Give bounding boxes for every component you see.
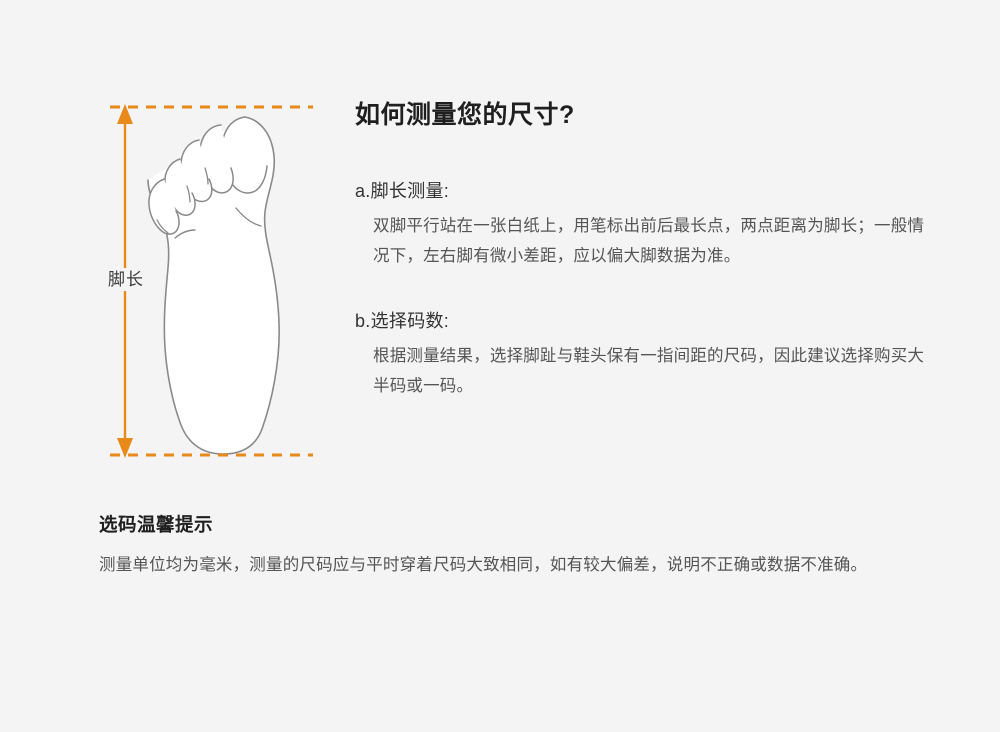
step-b: b.选择码数: 根据测量结果，选择脚趾与鞋头保有一指间距的尺码，因此建议选择购买… [355, 308, 935, 401]
sizing-tips-title: 选码温馨提示 [99, 513, 909, 537]
sizing-tips-section: 选码温馨提示 测量单位均为毫米，测量的尺码应与平时穿着尺码大致相同，如有较大偏差… [99, 513, 909, 581]
step-a-heading: a.脚长测量: [355, 178, 935, 205]
step-a-body: 双脚平行站在一张白纸上，用笔标出前后最长点，两点距离为脚长；一般情况下，左右脚有… [355, 211, 933, 271]
step-b-body: 根据测量结果，选择脚趾与鞋头保有一指间距的尺码，因此建议选择购买大半码或一码。 [355, 341, 933, 401]
step-a: a.脚长测量: 双脚平行站在一张白纸上，用笔标出前后最长点，两点距离为脚长；一般… [355, 178, 935, 271]
foot-measurement-diagram: 脚长 [95, 90, 345, 470]
size-guide-page: 脚长 如何测量您的尺寸? a.脚长测量: 双脚平行站在一张白纸上，用笔标出前后最… [0, 0, 1000, 732]
foot-outline-group [148, 117, 279, 454]
page-title: 如何测量您的尺寸? [355, 100, 935, 131]
foot-length-label: 脚长 [103, 268, 149, 291]
instructions-panel: 如何测量您的尺寸? a.脚长测量: 双脚平行站在一张白纸上，用笔标出前后最长点，… [355, 100, 935, 401]
step-b-heading: b.选择码数: [355, 308, 935, 335]
sizing-tips-body: 测量单位均为毫米，测量的尺码应与平时穿着尺码大致相同，如有较大偏差，说明不正确或… [99, 550, 909, 581]
